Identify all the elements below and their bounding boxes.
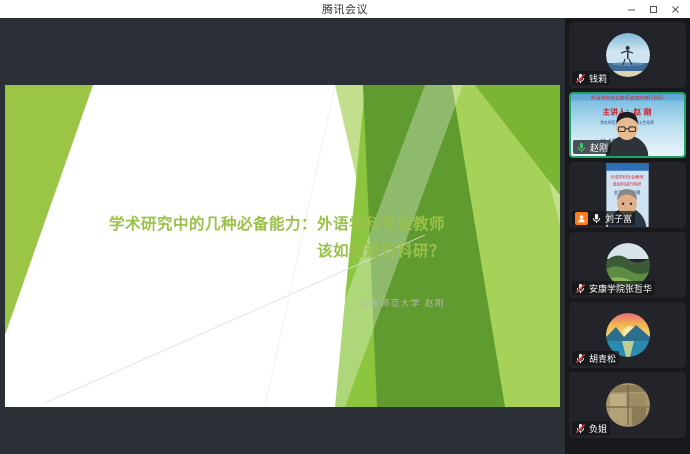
participant-tile[interactable]: 负姐	[569, 372, 686, 438]
tencent-meeting-window: 腾讯会议	[0, 0, 690, 454]
participant-tile[interactable]: 钱莉	[569, 22, 686, 88]
stone-texture-avatar	[606, 383, 650, 427]
participant-name: 安康学院张哲华	[589, 282, 652, 295]
host-badge	[575, 212, 588, 225]
participant-name: 钱莉	[589, 72, 607, 85]
participant-name: 赵刚	[590, 141, 608, 154]
host-person-icon	[577, 214, 586, 223]
participant-name: 胡青松	[589, 352, 616, 365]
participant-namebar: 赵刚	[573, 140, 611, 154]
avatar	[606, 33, 650, 77]
slide-title-line-2: 该如何进行科研？	[45, 237, 445, 264]
mic-off-icon	[575, 283, 586, 294]
participant-namebar: 负姐	[572, 421, 610, 435]
svg-text:该如何进行科研: 该如何进行科研	[613, 180, 642, 186]
participant-name: 刘子富	[605, 212, 632, 225]
shared-slide: 学术研究中的几种必备能力：外语学科专业教师 该如何进行科研？ 华东师范大学 赵刚	[5, 85, 560, 407]
mic-off-icon	[575, 423, 586, 434]
title-bar: 腾讯会议	[0, 0, 690, 19]
mic-off-icon	[575, 353, 586, 364]
participant-tile-active-speaker[interactable]: 外语学科专业教师该如何进行科研 主讲人：赵 刚 华东师范大学教授、博士生导师 主…	[569, 92, 686, 158]
close-button[interactable]	[664, 0, 686, 18]
participant-namebar: 钱莉	[572, 71, 610, 85]
mic-on-icon	[591, 213, 602, 224]
window-title: 腾讯会议	[322, 1, 368, 17]
avatar	[606, 383, 650, 427]
participant-tile[interactable]: 胡青松	[569, 302, 686, 368]
window-controls	[620, 0, 686, 18]
minimize-button[interactable]	[620, 0, 642, 18]
beach-photo-avatar	[606, 33, 650, 77]
slide-title: 学术研究中的几种必备能力：外语学科专业教师 该如何进行科研？	[45, 210, 445, 264]
slide-title-line-1: 学术研究中的几种必备能力：外语学科专业教师	[45, 210, 445, 237]
maximize-button[interactable]	[642, 0, 664, 18]
mic-on-icon	[576, 142, 587, 153]
mic-off-icon	[575, 73, 586, 84]
participant-rail[interactable]: 钱莉 外语学科专业教师该如何进行科研 主讲人：赵 刚 华东师范大学教授、博士生导…	[565, 18, 690, 454]
shared-screen-stage[interactable]: 学术研究中的几种必备能力：外语学科专业教师 该如何进行科研？ 华东师范大学 赵刚	[0, 18, 565, 454]
participant-tile[interactable]: 外语学科专业教师 该如何进行科研 主讲人：赵刚	[569, 162, 686, 228]
participant-name: 负姐	[589, 422, 607, 435]
participant-namebar: 刘子富	[572, 211, 635, 225]
svg-text:外语学科专业教师: 外语学科专业教师	[611, 174, 644, 180]
participant-namebar: 胡青松	[572, 351, 619, 365]
participant-tile[interactable]: 安康学院张哲华	[569, 232, 686, 298]
slide-subtitle: 华东师范大学 赵刚	[45, 297, 445, 309]
participant-namebar: 安康学院张哲华	[572, 281, 655, 295]
